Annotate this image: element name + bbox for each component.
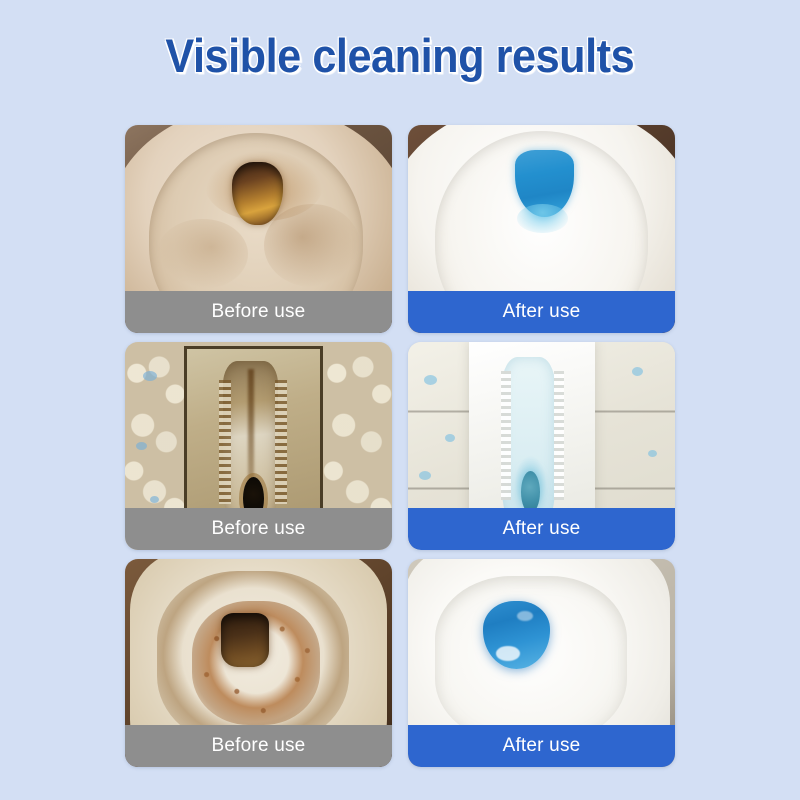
after-card-2[interactable]: After use <box>408 342 675 550</box>
after-card-3[interactable]: After use <box>408 559 675 767</box>
highlight-shape <box>496 646 520 661</box>
after-label-2: After use <box>408 508 675 550</box>
tile-speck <box>143 371 157 381</box>
before-card-2[interactable]: Before use <box>125 342 392 550</box>
footrest-ridges-right <box>554 371 564 500</box>
blue-cleaner-spill-shape <box>517 204 568 233</box>
after-card-1[interactable]: After use <box>408 125 675 333</box>
footrest-ridges-left <box>219 380 231 504</box>
drain-hole-shape <box>221 613 269 667</box>
stain-patch <box>264 204 360 287</box>
tile-speck <box>445 434 455 442</box>
tile-speck <box>136 442 147 450</box>
before-label-2: Before use <box>125 508 392 550</box>
after-label-3: After use <box>408 725 675 767</box>
page-title: Visible cleaning results <box>166 28 635 83</box>
page-header: Visible cleaning results <box>0 0 800 110</box>
after-label-1: After use <box>408 291 675 333</box>
comparison-row-1: Before use After use <box>125 125 675 333</box>
before-label-1: Before use <box>125 291 392 333</box>
stain-patch <box>157 219 248 290</box>
before-card-1[interactable]: Before use <box>125 125 392 333</box>
before-card-3[interactable]: Before use <box>125 559 392 767</box>
comparison-row-3: Before use After use <box>125 559 675 767</box>
tile-speck <box>419 471 431 480</box>
comparison-grid: Before use After use <box>125 125 675 767</box>
comparison-row-2: Before use After use <box>125 342 675 550</box>
drain-hole-shape <box>232 162 283 224</box>
before-label-3: Before use <box>125 725 392 767</box>
blue-cleaner-shape <box>521 471 540 513</box>
footrest-ridges-left <box>501 371 511 500</box>
tile-speck <box>150 496 159 503</box>
footrest-ridges-right <box>275 380 287 504</box>
